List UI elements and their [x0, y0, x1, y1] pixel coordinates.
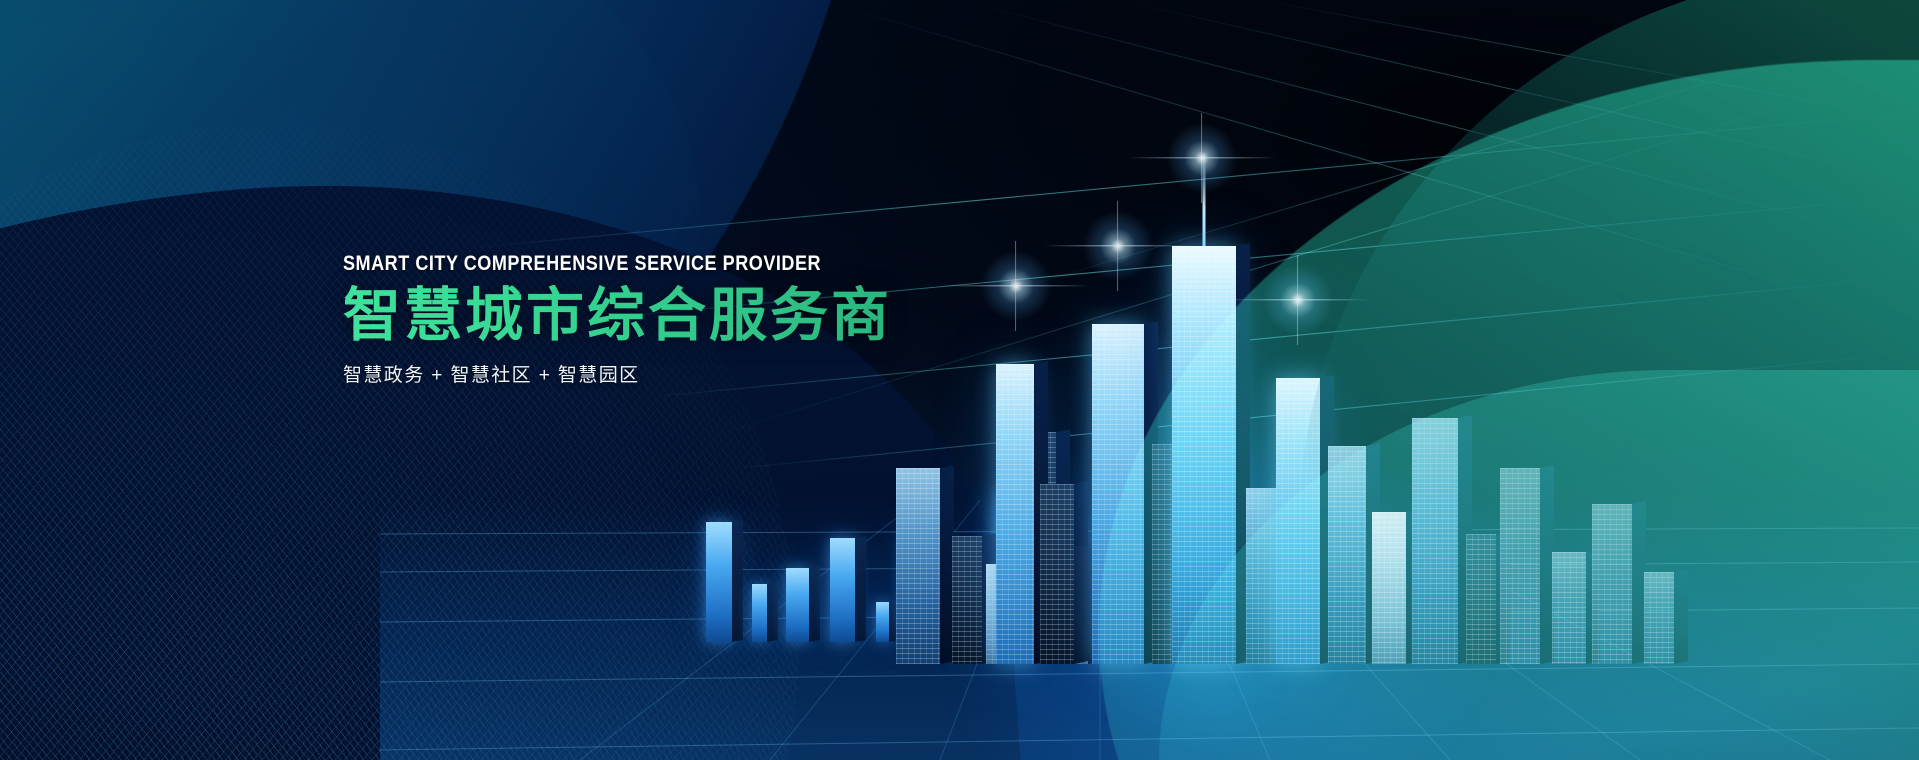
hero-headline-chinese: 智慧城市综合服务商	[343, 285, 1103, 348]
hero-copy-block: SMART CITY COMPREHENSIVE SERVICE PROVIDE…	[343, 252, 1103, 387]
building-window-grid	[896, 468, 940, 664]
hero-subline-services: 智慧政务 + 智慧社区 + 智慧园区	[343, 360, 1103, 387]
building-side-face	[1074, 481, 1088, 664]
building-window-grid	[1040, 484, 1074, 664]
building-window-grid	[952, 536, 982, 664]
hero-banner: SMART CITY COMPREHENSIVE SERVICE PROVIDE…	[0, 0, 1919, 760]
skyline-building	[1040, 484, 1074, 664]
hero-eyebrow-english: SMART CITY COMPREHENSIVE SERVICE PROVIDE…	[343, 252, 997, 276]
skyline-building	[896, 468, 940, 664]
building-spire	[1203, 154, 1206, 246]
building-window-grid	[996, 364, 1034, 664]
skyline-building	[996, 364, 1034, 664]
skyline-building	[952, 536, 982, 664]
